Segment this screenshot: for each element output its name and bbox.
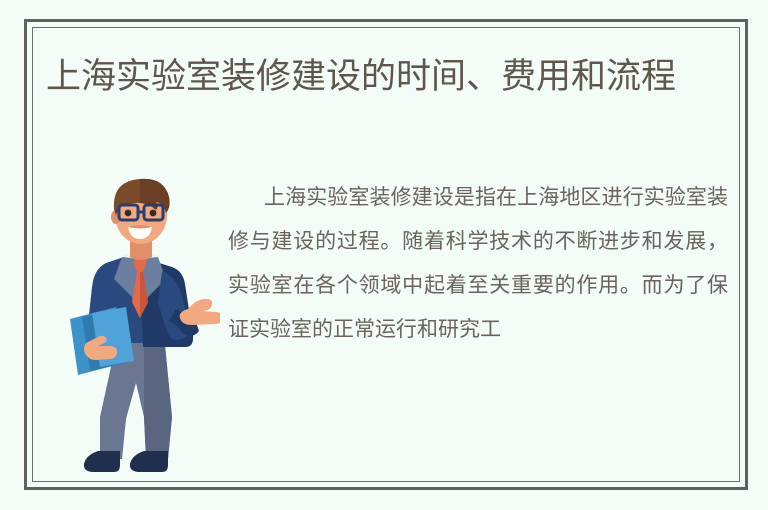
- article-body-text: 上海实验室装修建设是指在上海地区进行实验室装修与建设的过程。随着科学技术的不断进…: [228, 175, 728, 351]
- shoe-right: [130, 451, 168, 472]
- shoe-left: [84, 451, 120, 472]
- article-content: 上海实验室装修建设的时间、费用和流程: [32, 27, 740, 482]
- page-root: 上海实验室装修建设的时间、费用和流程: [0, 0, 768, 510]
- businessman-illustration: [60, 167, 220, 487]
- eye-left: [125, 210, 132, 217]
- trousers-shadow: [144, 335, 172, 459]
- page-title: 上海实验室装修建设的时间、费用和流程: [46, 53, 726, 101]
- article-body-row: 上海实验室装修建设是指在上海地区进行实验室装修与建设的过程。随着科学技术的不断进…: [32, 167, 740, 482]
- eye-right: [150, 210, 157, 217]
